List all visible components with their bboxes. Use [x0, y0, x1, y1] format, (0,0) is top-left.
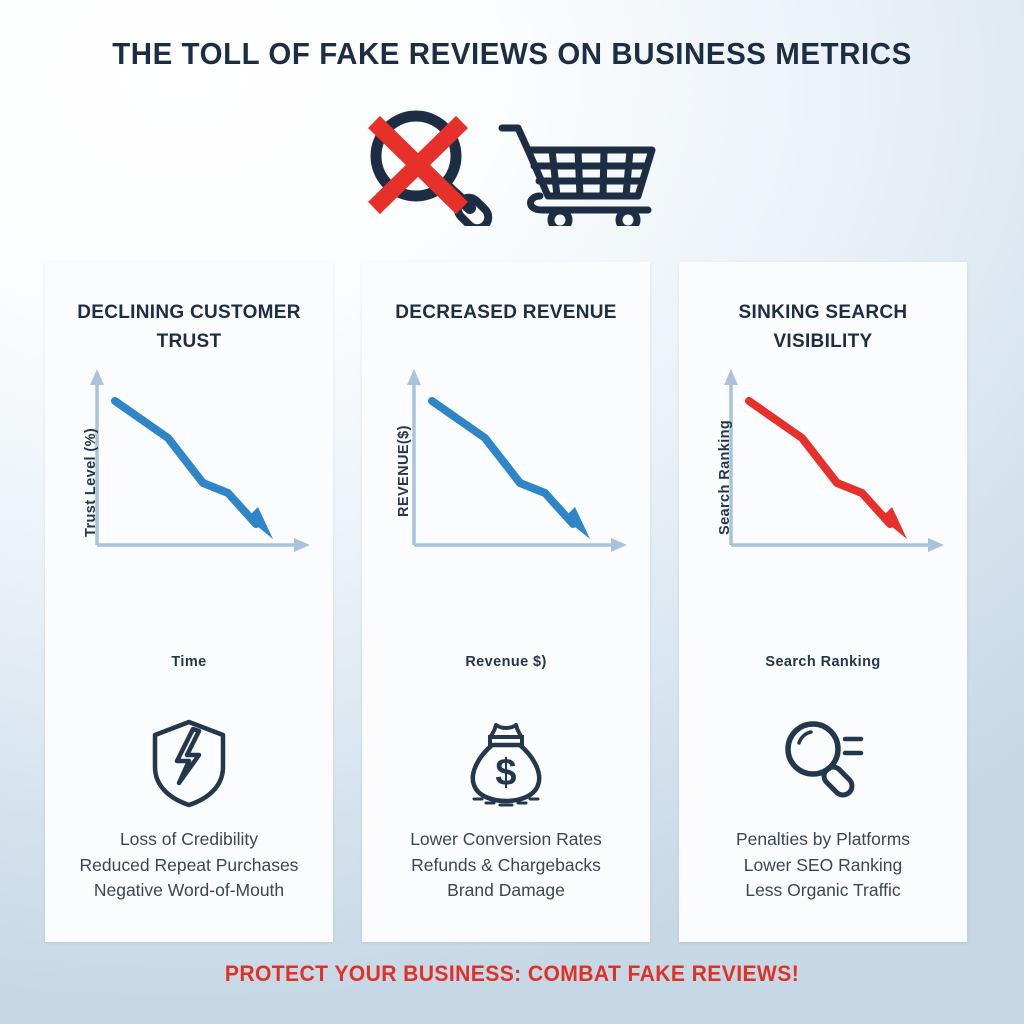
y-axis-arrowhead	[90, 369, 104, 385]
list-item: Reduced Repeat Purchases	[55, 853, 323, 879]
panel-bullet-list: Penalties by Platforms Lower SEO Ranking…	[689, 827, 957, 904]
shopping-cart-icon	[502, 128, 652, 226]
y-axis-label: Trust Level (%)	[83, 428, 99, 537]
trend-line	[432, 401, 573, 524]
magnifier-icon	[679, 717, 967, 810]
infographic-canvas: The Toll of Fake Reviews on Business Met…	[0, 0, 1024, 1024]
x-axis-label: Time	[45, 654, 333, 670]
list-item: Lower Conversion Rates	[372, 827, 640, 853]
page-title: The Toll of Fake Reviews on Business Met…	[26, 36, 999, 72]
cracked-shield-icon	[45, 717, 333, 814]
panel-title: Decreased Revenue	[376, 298, 636, 327]
hero-icon-group	[352, 104, 672, 226]
panel-bullet-list: Loss of Credibility Reduced Repeat Purch…	[55, 827, 323, 904]
list-item: Brand Damage	[372, 878, 640, 904]
panel-bullet-list: Lower Conversion Rates Refunds & Chargeb…	[372, 827, 640, 904]
money-bag-icon: $	[362, 717, 650, 814]
y-axis-arrowhead	[407, 369, 421, 385]
search-ranking-chart: Search Ranking	[685, 367, 961, 582]
y-axis-label: Search Ranking	[717, 420, 733, 535]
metric-panel-search: Sinking Search Visibility Search Ranking…	[679, 262, 967, 942]
list-item: Penalties by Platforms	[689, 827, 957, 853]
revenue-decline-chart: REVENUE($)	[368, 367, 644, 582]
list-item: Less Organic Traffic	[689, 878, 957, 904]
x-axis-arrowhead	[611, 538, 627, 552]
metric-panel-revenue: Decreased Revenue REVENUE($) Revenue $)	[362, 262, 650, 942]
panel-title: Sinking Search Visibility	[693, 298, 953, 356]
panel-title: Declining Customer Trust	[59, 298, 319, 356]
x-axis-label: Search Ranking	[679, 654, 967, 670]
svg-text:$: $	[495, 752, 516, 794]
list-item: Refunds & Chargebacks	[372, 853, 640, 879]
trend-line	[749, 401, 890, 524]
trend-line	[115, 401, 256, 524]
x-axis-arrowhead	[294, 538, 310, 552]
x-axis-arrowhead	[928, 538, 944, 552]
list-item: Loss of Credibility	[55, 827, 323, 853]
list-item: Negative Word-of-Mouth	[55, 878, 323, 904]
footer-callout: Protect Your Business: Combat Fake Revie…	[20, 961, 1003, 987]
y-axis-arrowhead	[724, 369, 738, 385]
trust-decline-chart: Trust Level (%)	[51, 367, 327, 582]
list-item: Lower SEO Ranking	[689, 853, 957, 879]
metric-panel-trust: Declining Customer Trust Trust Level (%)…	[45, 262, 333, 942]
y-axis-label: REVENUE($)	[396, 425, 412, 517]
x-axis-label: Revenue $)	[362, 654, 650, 670]
